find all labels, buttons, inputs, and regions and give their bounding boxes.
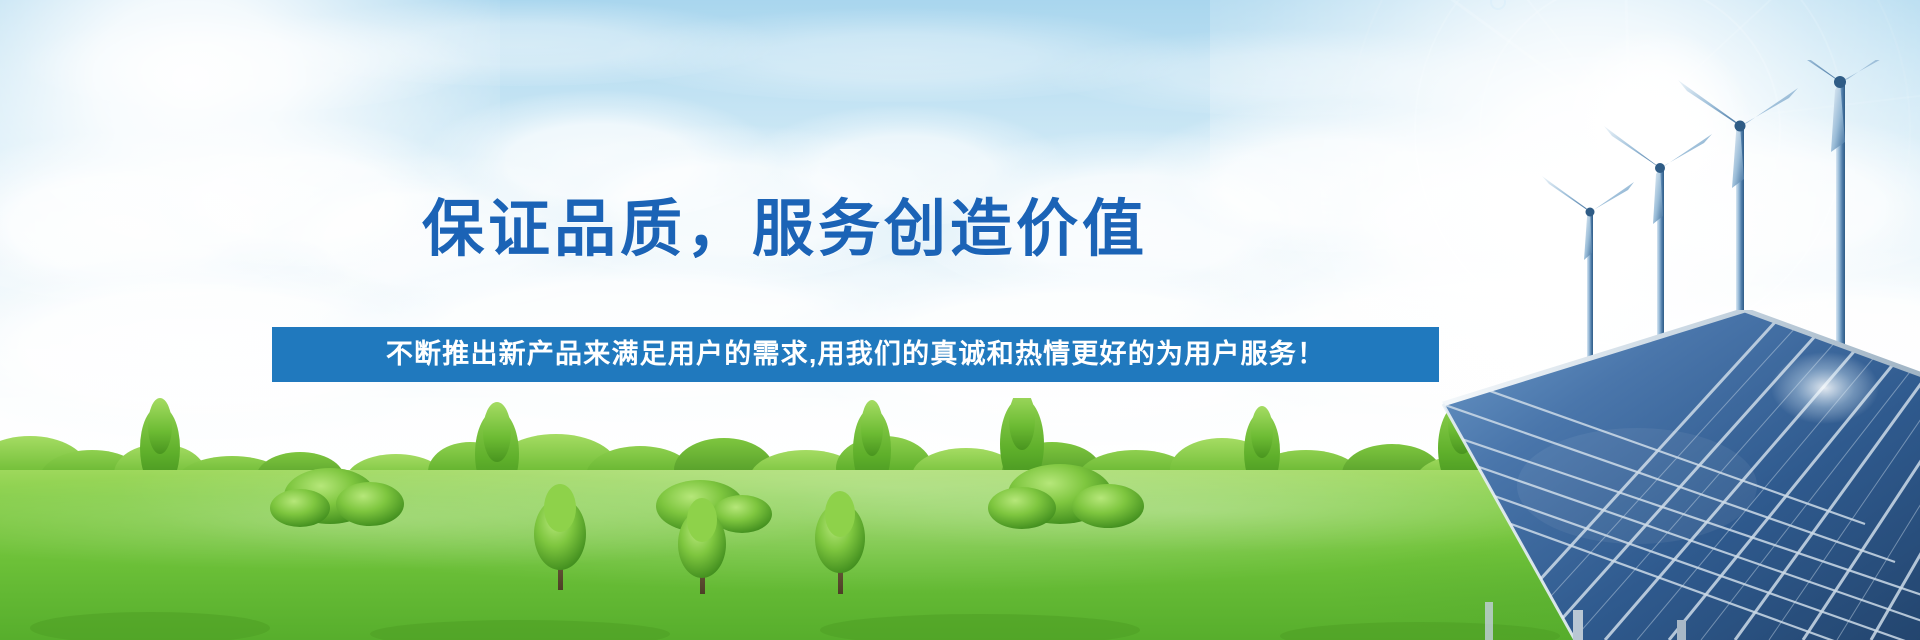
subtitle-text: 不断推出新产品来满足用户的需求,用我们的真诚和热情更好的为用户服务！	[386, 341, 1325, 368]
solar-panel-array	[1425, 310, 1920, 640]
sapling-1	[534, 484, 586, 590]
hero-banner: 保证品质，服务创造价值 不断推出新产品来满足用户的需求,用我们的真诚和热情更好的…	[0, 0, 1920, 640]
shrub-cluster-left	[270, 468, 404, 527]
panel-glare	[1771, 352, 1879, 424]
sapling-3	[815, 491, 865, 594]
shrub-cluster-right	[988, 464, 1144, 529]
page-title: 保证品质，服务创造价值	[0, 196, 1570, 264]
subtitle-banner: 不断推出新产品来满足用户的需求,用我们的真诚和热情更好的为用户服务！	[272, 327, 1439, 382]
